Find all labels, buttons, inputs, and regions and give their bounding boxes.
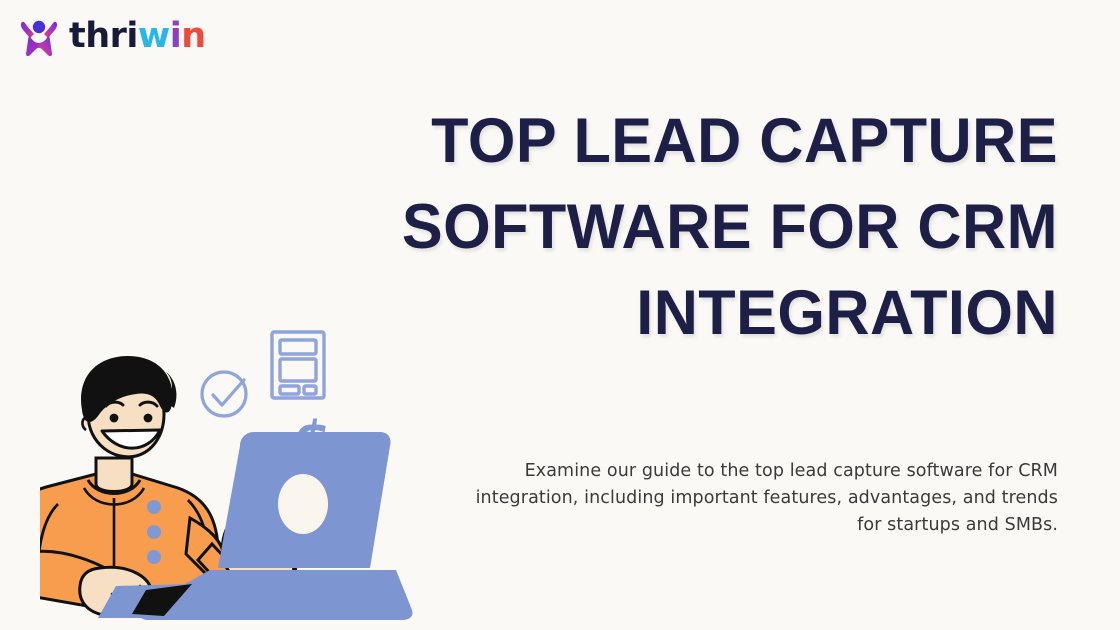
headline-line-1: TOP LEAD CAPTURE xyxy=(379,98,1058,184)
wordmark-thri: thri xyxy=(69,16,138,56)
headline-line-2: SOFTWARE FOR CRM xyxy=(379,184,1058,270)
wordmark-n: n xyxy=(181,16,205,56)
brand-wordmark: thriwin xyxy=(69,19,206,54)
man-at-laptop-illustration: $ xyxy=(40,318,460,630)
brand-logo[interactable]: thriwin xyxy=(18,14,206,58)
hero-banner: thriwin TOP LEAD CAPTURE SOFTWARE FOR CR… xyxy=(0,0,1120,630)
mobile-form-icon xyxy=(272,332,324,398)
shirt-button xyxy=(147,525,161,539)
page-title: TOP LEAD CAPTURE SOFTWARE FOR CRM INTEGR… xyxy=(379,98,1058,356)
thriwin-person-logo-icon xyxy=(18,14,60,58)
shirt-button xyxy=(147,500,161,514)
wordmark-w: w xyxy=(138,16,170,56)
shirt-button xyxy=(147,550,161,564)
hero-description: Examine our guide to the top lead captur… xyxy=(448,458,1058,539)
check-circle-icon xyxy=(202,372,246,416)
headline-line-3: INTEGRATION xyxy=(379,270,1058,356)
wordmark-i: i xyxy=(170,16,182,56)
